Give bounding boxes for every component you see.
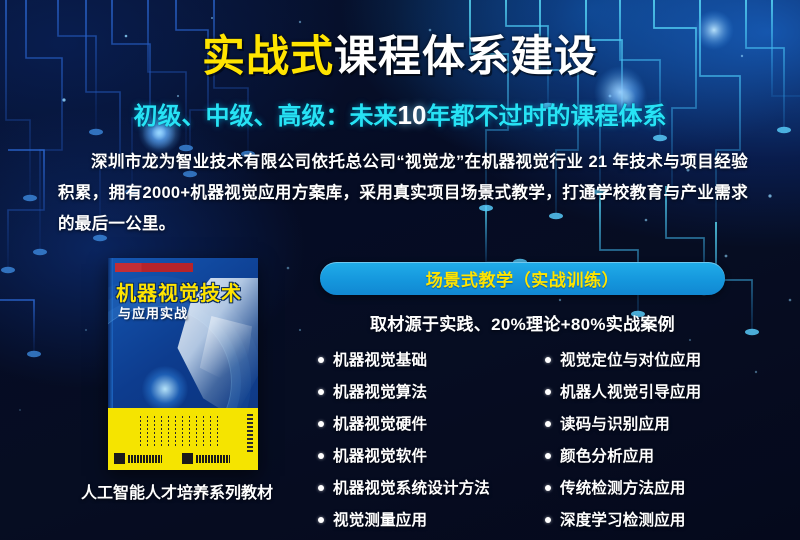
list-item-label: 深度学习检测应用 [560,508,686,530]
bullet-icon [545,485,551,491]
bullet-icon [318,453,324,459]
list-item: 视觉测量应用 [318,508,523,530]
list-item-label: 机器人视觉引导应用 [560,380,701,402]
course-topic-columns: 机器视觉基础 机器视觉算法 机器视觉硬件 机器视觉软件 机器视觉系统设计方法 视… [318,348,788,540]
page-subtitle-suffix: 年都不过时的课程体系 [426,103,666,130]
page-title-rest: 课程体系建设 [334,33,598,81]
page-subtitle: 初级、中级、高级：未来10年都不过时的课程体系 [0,96,800,131]
teaching-banner-label: 场景式教学（实战训练） [426,266,620,291]
list-item-label: 读码与识别应用 [560,412,670,434]
list-item-label: 机器视觉软件 [333,444,427,466]
list-item: 读码与识别应用 [545,412,780,434]
list-item: 机器视觉硬件 [318,412,523,434]
book-cover-image: 机器视觉技术 与应用实战 [108,258,258,470]
book-cover-subtitle: 与应用实战 [118,303,188,322]
list-item-label: 机器视觉算法 [333,380,427,402]
intro-paragraph: 深圳市龙为智业技术有限公司依托总公司“视觉龙”在机器视觉行业 21 年技术与项目… [58,147,748,240]
course-list-right: 视觉定位与对位应用 机器人视觉引导应用 读码与识别应用 颜色分析应用 传统检测方… [545,348,780,530]
bullet-icon [318,517,324,523]
page-title: 实战式课程体系建设 [0,36,800,79]
bullet-icon [318,421,324,427]
publisher-banner [115,263,193,272]
bullet-icon [545,453,551,459]
teaching-banner: 场景式教学（实战训练） [320,262,725,295]
light-beam-glow [142,366,188,412]
list-item: 机器人视觉引导应用 [545,380,780,402]
publisher-logo-ptpress [182,453,230,464]
list-item: 传统检测方法应用 [545,476,780,498]
bullet-icon [545,517,551,523]
list-item: 机器视觉基础 [318,348,523,370]
book-blurb-lines [140,416,232,450]
teaching-summary: 取材源于实践、20%理论+80%实战案例 [320,310,725,335]
book-caption: 人工智能人才培养系列教材 [81,479,231,503]
list-item-label: 机器视觉系统设计方法 [333,476,490,498]
publisher-logo-cip [114,453,162,464]
bullet-icon [318,485,324,491]
list-item: 视觉定位与对位应用 [545,348,780,370]
book-cover-footer [108,408,258,470]
course-list-left: 机器视觉基础 机器视觉算法 机器视觉硬件 机器视觉软件 机器视觉系统设计方法 视… [318,348,523,530]
course-column-right: 视觉定位与对位应用 机器人视觉引导应用 读码与识别应用 颜色分析应用 传统检测方… [545,348,780,540]
bullet-icon [545,357,551,363]
bullet-icon [318,357,324,363]
book-cover-title: 机器视觉技术 [116,277,242,306]
bullet-icon [545,421,551,427]
list-item-label: 机器视觉基础 [333,348,427,370]
book-showcase: 机器视觉技术 与应用实战 人工智能人才培养系列教材 [108,258,258,470]
list-item-label: 机器视觉硬件 [333,412,427,434]
bullet-icon [318,389,324,395]
page-subtitle-prefix: 初级、中级、高级：未来 [134,103,398,130]
list-item-label: 视觉定位与对位应用 [560,348,701,370]
list-item-label: 颜色分析应用 [560,444,654,466]
course-column-left: 机器视觉基础 机器视觉算法 机器视觉硬件 机器视觉软件 机器视觉系统设计方法 视… [318,348,523,540]
list-item: 机器视觉算法 [318,380,523,402]
list-item-label: 视觉测量应用 [333,508,427,530]
list-item: 颜色分析应用 [545,444,780,466]
page-title-highlight: 实战式 [202,33,334,81]
page-subtitle-number: 10 [398,100,427,130]
list-item: 深度学习检测应用 [545,508,780,530]
list-item-label: 传统检测方法应用 [560,476,686,498]
book-author-line [247,414,253,452]
list-item: 机器视觉软件 [318,444,523,466]
bullet-icon [545,389,551,395]
list-item: 机器视觉系统设计方法 [318,476,523,498]
poster-canvas: 实战式课程体系建设 初级、中级、高级：未来10年都不过时的课程体系 深圳市龙为智… [0,0,800,540]
